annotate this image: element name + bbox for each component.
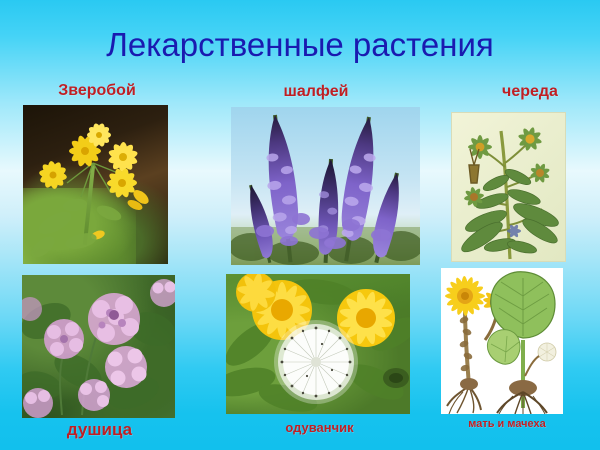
plant-label-matmacheha: мать и мачеха <box>432 418 582 430</box>
plant-label-oduvanchik: одуванчик <box>232 420 407 435</box>
dandelion-decor <box>226 274 410 414</box>
plant-label-chereda: череда <box>470 83 590 101</box>
plant-image-chereda <box>451 112 566 262</box>
presentation-slide: Лекарственные растения Зверобой шалфей ч… <box>0 0 600 450</box>
plant-label-dushitsa: душица <box>22 420 177 440</box>
page-title: Лекарственные растения <box>0 26 600 64</box>
st-johns-wort-flowers-decor <box>23 105 168 264</box>
plant-label-shalfey: шалфей <box>236 83 396 101</box>
plant-image-zveroboy <box>23 105 168 264</box>
sage-spikes-decor <box>231 107 420 265</box>
bur-marigold-plate-decor <box>452 113 565 261</box>
plant-label-zveroboy: Зверобой <box>22 82 172 100</box>
plant-image-oduvanchik <box>226 274 410 414</box>
plant-image-matmacheha <box>441 268 563 414</box>
plant-image-dushitsa <box>22 275 175 418</box>
plant-image-shalfey <box>231 107 420 265</box>
oregano-blossoms-decor <box>22 275 175 418</box>
coltsfoot-plate-decor <box>441 268 563 414</box>
